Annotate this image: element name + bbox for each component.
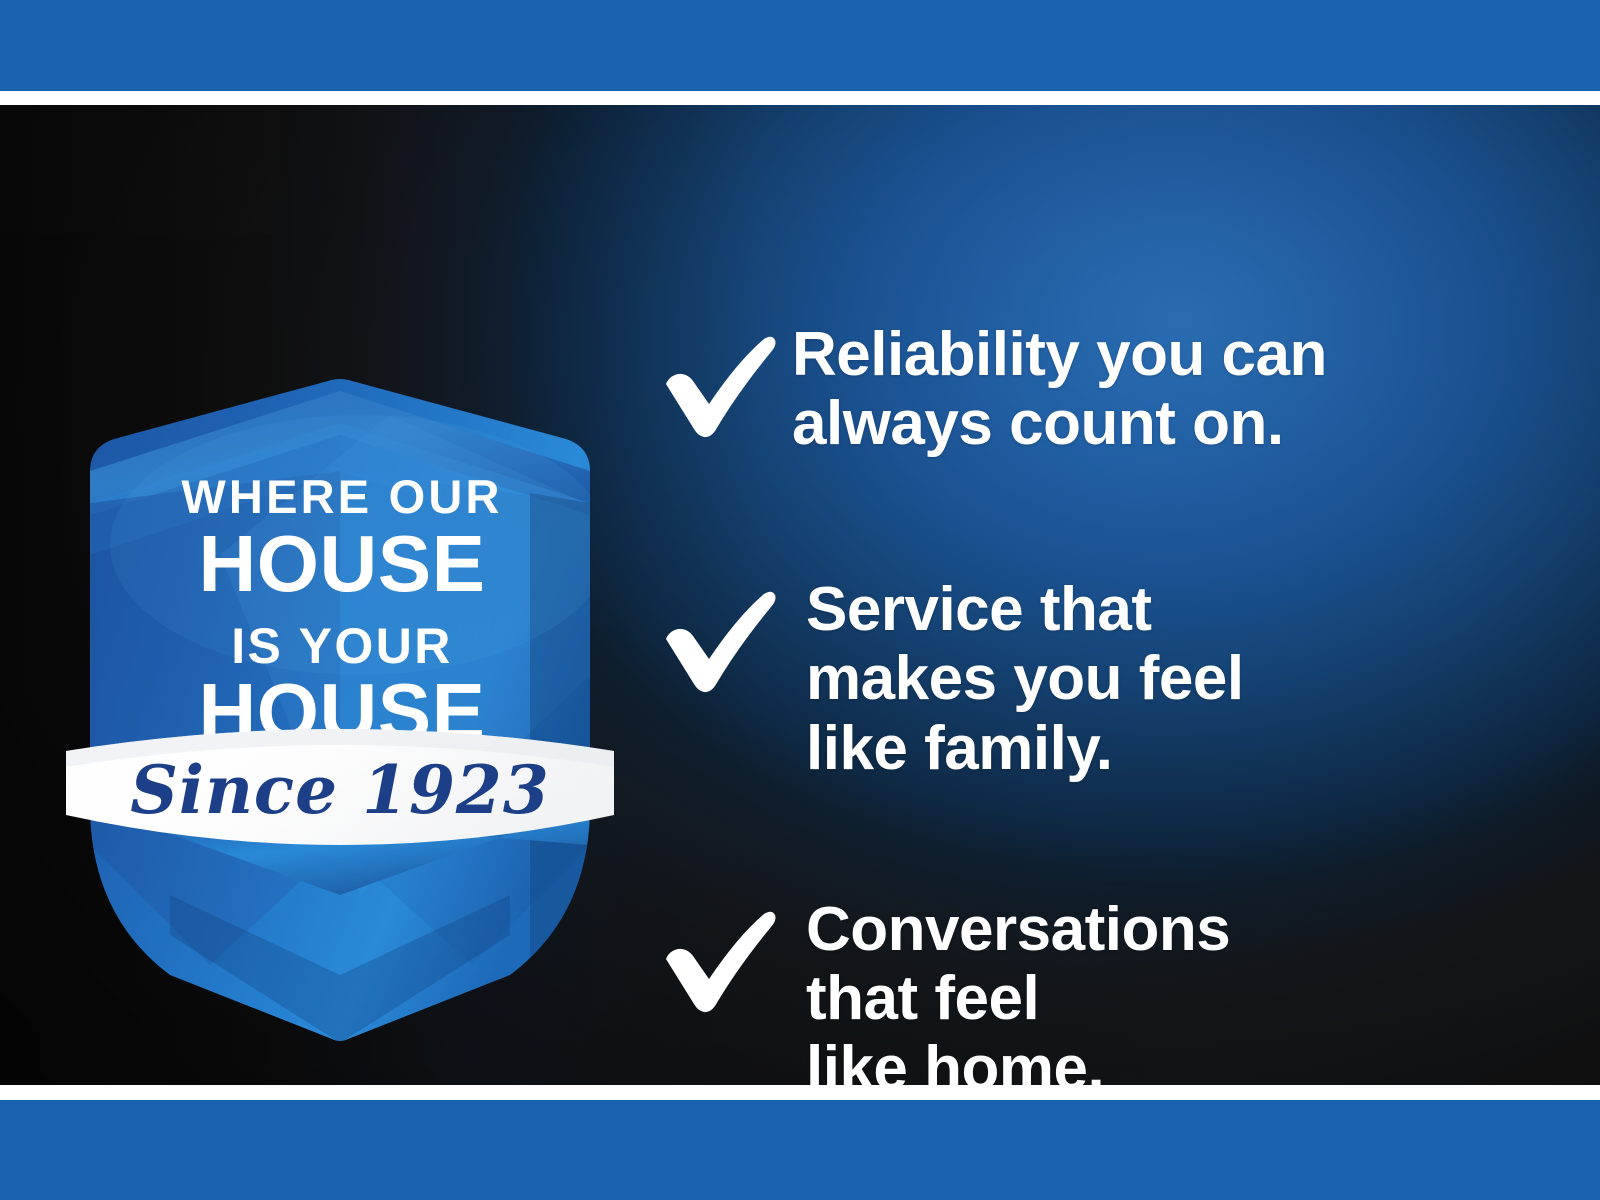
since-ribbon: Since 1923 <box>62 726 617 845</box>
top-brand-bar <box>0 0 1600 91</box>
promo-poster: WHERE OUR HOUSE IS YOUR HOUSE Since 1923 <box>0 0 1600 1200</box>
benefit-text: Conversations that feel like home. <box>806 895 1230 1085</box>
trust-shield-badge: WHERE OUR HOUSE IS YOUR HOUSE Since 1923 <box>60 375 620 1045</box>
benefit-text: Service that makes you feel like family. <box>806 575 1244 783</box>
badge-line-1: WHERE OUR <box>181 470 502 523</box>
badge-line-2: HOUSE <box>199 519 486 608</box>
benefit-text: Reliability you can always count on. <box>792 320 1327 459</box>
badge-line-3: IS YOUR <box>231 618 453 674</box>
main-stage: WHERE OUR HOUSE IS YOUR HOUSE Since 1923 <box>0 105 1600 1085</box>
check-icon <box>660 320 792 438</box>
grain-texture <box>0 105 280 235</box>
check-icon <box>660 895 792 1013</box>
benefit-item-service: Service that makes you feel like family. <box>660 575 1244 783</box>
benefit-item-reliability: Reliability you can always count on. <box>660 320 1327 459</box>
check-icon <box>660 575 792 693</box>
ribbon-text: Since 1923 <box>130 751 550 829</box>
benefit-item-conversations: Conversations that feel like home. <box>660 895 1230 1085</box>
bottom-brand-bar <box>0 1100 1600 1200</box>
